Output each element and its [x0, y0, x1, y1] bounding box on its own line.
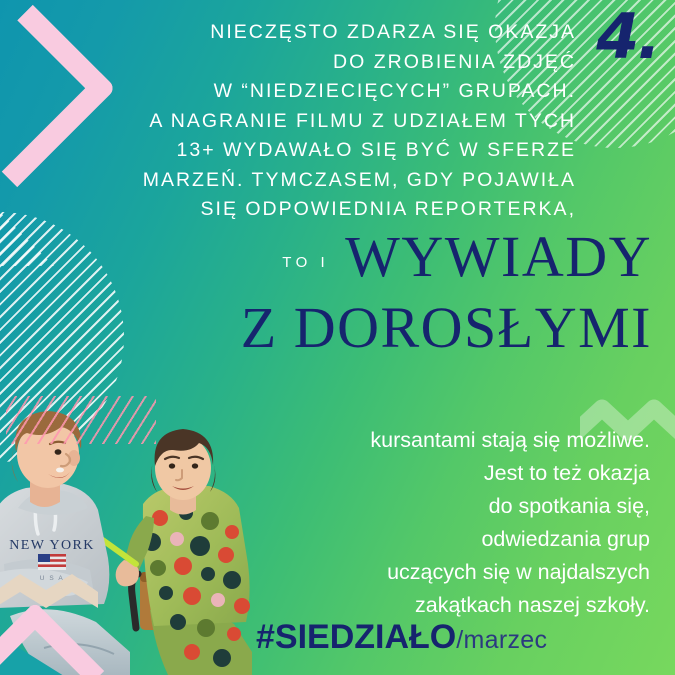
- body-paragraph: kursantami stają się możliwe. Jest to te…: [230, 424, 650, 622]
- svg-text:U S A: U S A: [40, 575, 65, 582]
- headline-kicker: TO I: [282, 254, 329, 271]
- headline-block: TO IWYWIADY Z DOROSŁYMI: [0, 228, 652, 357]
- hashtag-main[interactable]: #SIEDZIAŁO: [256, 618, 456, 656]
- headline-line-1: WYWIADY: [345, 228, 652, 286]
- headline-line-2: Z DOROSŁYMI: [0, 299, 652, 357]
- step-number-badge: 4.: [596, 6, 659, 68]
- intro-paragraph: NIECZĘSTO ZDARZA SIĘ OKAZJA DO ZROBIENIA…: [20, 18, 576, 225]
- hashtag-row[interactable]: #SIEDZIAŁO/marzec: [256, 618, 547, 657]
- hoodie-print-text: NEW YORK: [9, 538, 94, 553]
- social-media-card: 4. NIECZĘSTO ZDARZA SIĘ OKAZJA DO ZROBIE…: [0, 0, 675, 675]
- hashtag-suffix[interactable]: /marzec: [456, 626, 547, 654]
- photo-interview-cutout: NEW YORK U S A: [0, 396, 252, 675]
